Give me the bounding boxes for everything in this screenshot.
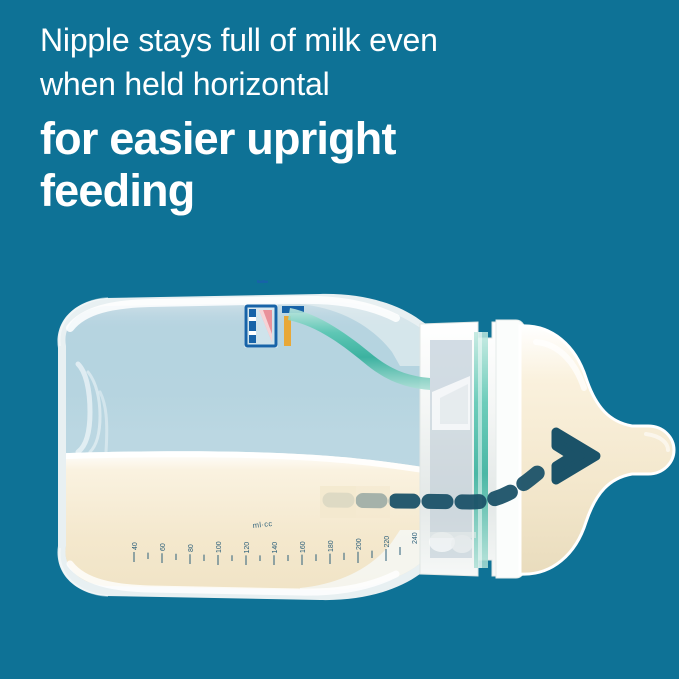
scale-number: 160	[300, 541, 307, 553]
scale-number: 240	[412, 532, 419, 544]
headline-bold-line-2: feeding	[40, 165, 640, 217]
philips-shield-icon	[244, 304, 278, 348]
feature-image-canvas: Nipple stays full of milk even when held…	[0, 0, 679, 679]
scale-number: 200	[356, 538, 363, 550]
scale-number: 100	[216, 541, 223, 553]
scale-number: 120	[244, 542, 251, 554]
teat-shape	[520, 326, 674, 574]
flow-fade-mask-2	[320, 486, 356, 518]
valve-column-highlight	[478, 332, 482, 568]
nipple-teat	[520, 326, 674, 574]
scale-number: 220	[384, 536, 391, 548]
scale-number: 80	[188, 544, 195, 552]
headline-bold-line-1: for easier upright	[40, 113, 640, 165]
product-illustration: PHILIPS ml·cc	[0, 280, 679, 620]
scale-number: 140	[272, 542, 279, 554]
headline-light-line-1: Nipple stays full of milk even	[40, 18, 640, 62]
scale-number: 40	[132, 542, 139, 550]
headline-bold-block: for easier upright feeding	[40, 113, 640, 217]
scale-number: 60	[160, 543, 167, 551]
headline-block: Nipple stays full of milk even when held…	[40, 18, 640, 217]
scale-number: 180	[328, 540, 335, 552]
philips-wordmark: PHILIPS	[255, 280, 272, 284]
headline-light-line-2: when held horizontal	[40, 62, 640, 106]
